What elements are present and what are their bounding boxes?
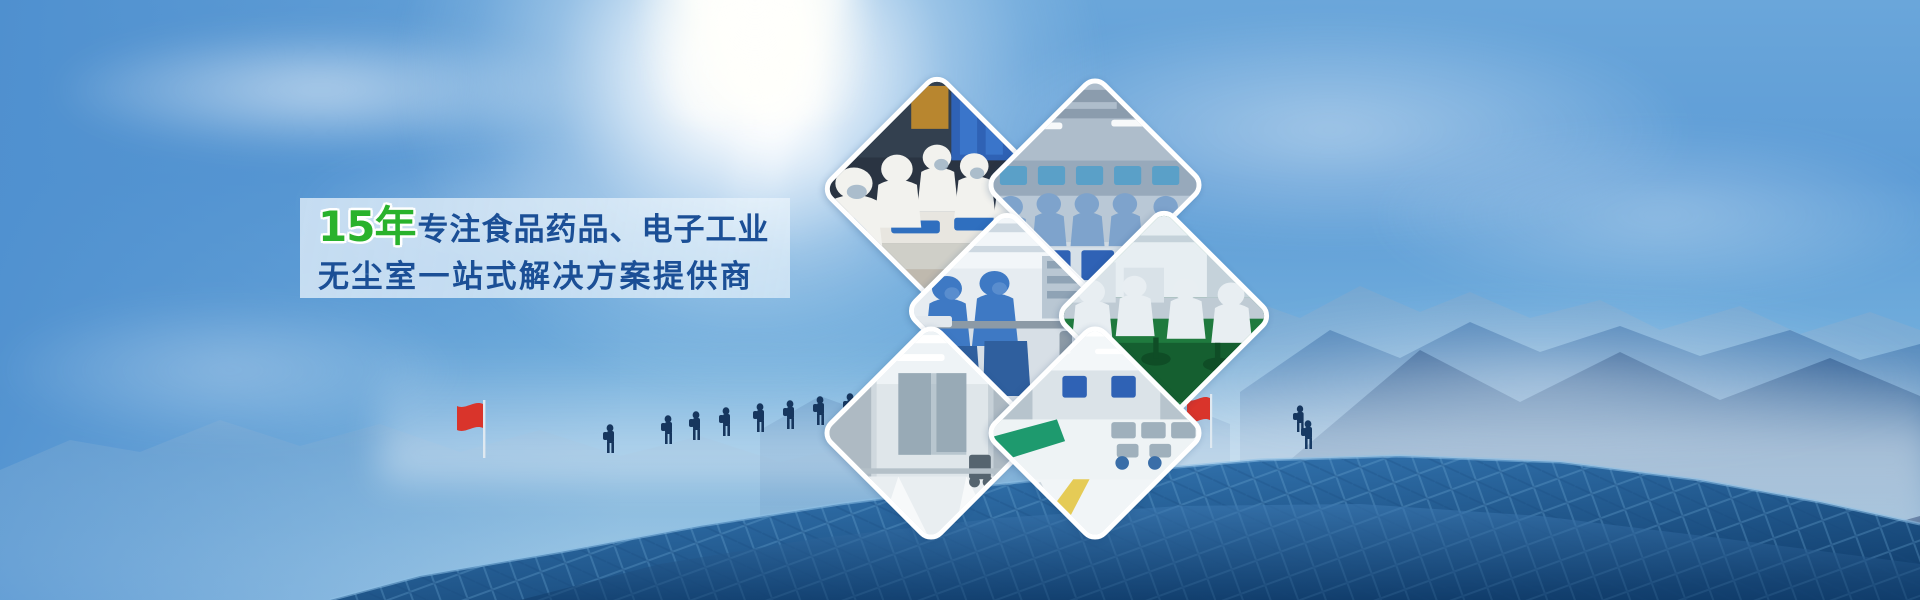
tagline-block: 15年 专注食品药品、电子工业 无尘室一站式解决方案提供商 [318, 200, 788, 298]
diamond-photo-collage [835, 85, 1285, 485]
hero-banner: 15年 专注食品药品、电子工业 无尘室一站式解决方案提供商 [0, 0, 1920, 600]
tagline-line-2: 无尘室一站式解决方案提供商 [318, 262, 788, 293]
climber-far-right [1296, 418, 1326, 454]
years-badge: 15年 [318, 206, 415, 248]
flag-left-icon [452, 398, 506, 460]
tagline-line-1: 15年 专注食品药品、电子工业 [318, 206, 788, 248]
tagline-line-1-rest: 专注食品药品、电子工业 [417, 215, 769, 246]
